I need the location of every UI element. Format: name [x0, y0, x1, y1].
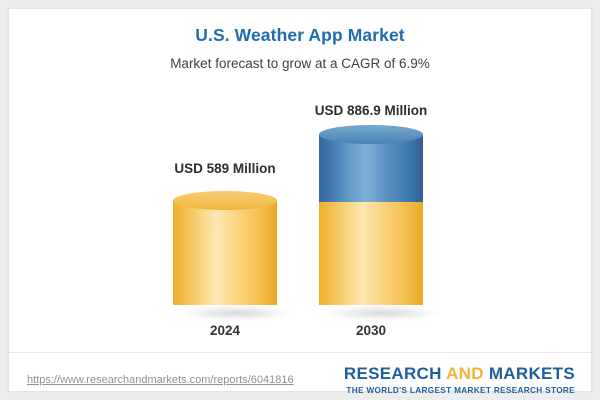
data-label-2030: USD 886.9 Million	[291, 103, 451, 118]
cylinder-body	[319, 202, 423, 305]
chart-card: U.S. Weather App Market Market forecast …	[8, 8, 592, 392]
bar-group-2030: USD 886.9 Million 2030	[311, 9, 431, 349]
research-and-markets-logo[interactable]: RESEARCH AND MARKETS THE WORLD'S LARGEST…	[344, 364, 575, 395]
logo-text-and: AND	[446, 364, 484, 383]
chart-plot-area: USD 589 Million 2024 USD 886.9 Million 2…	[9, 9, 593, 349]
cylinder-top	[173, 191, 277, 210]
bar-2030-growth	[319, 125, 423, 211]
bar-2024-base	[173, 191, 277, 314]
bar-2030-base	[319, 193, 423, 314]
x-tick-label-2030: 2030	[291, 323, 451, 338]
cylinder-body	[319, 134, 423, 202]
bar-group-2024: USD 589 Million 2024	[165, 9, 285, 349]
footer-divider	[9, 352, 593, 353]
cylinder-body	[173, 200, 277, 305]
logo-text-research: RESEARCH	[344, 364, 446, 383]
logo-text-markets: MARKETS	[484, 364, 575, 383]
logo-wordmark: RESEARCH AND MARKETS	[344, 364, 575, 384]
logo-tagline: THE WORLD'S LARGEST MARKET RESEARCH STOR…	[344, 386, 575, 395]
x-tick-label-2024: 2024	[145, 323, 305, 338]
data-label-2024: USD 589 Million	[145, 161, 305, 176]
report-url-link[interactable]: https://www.researchandmarkets.com/repor…	[27, 374, 294, 386]
cylinder-top	[319, 125, 423, 144]
